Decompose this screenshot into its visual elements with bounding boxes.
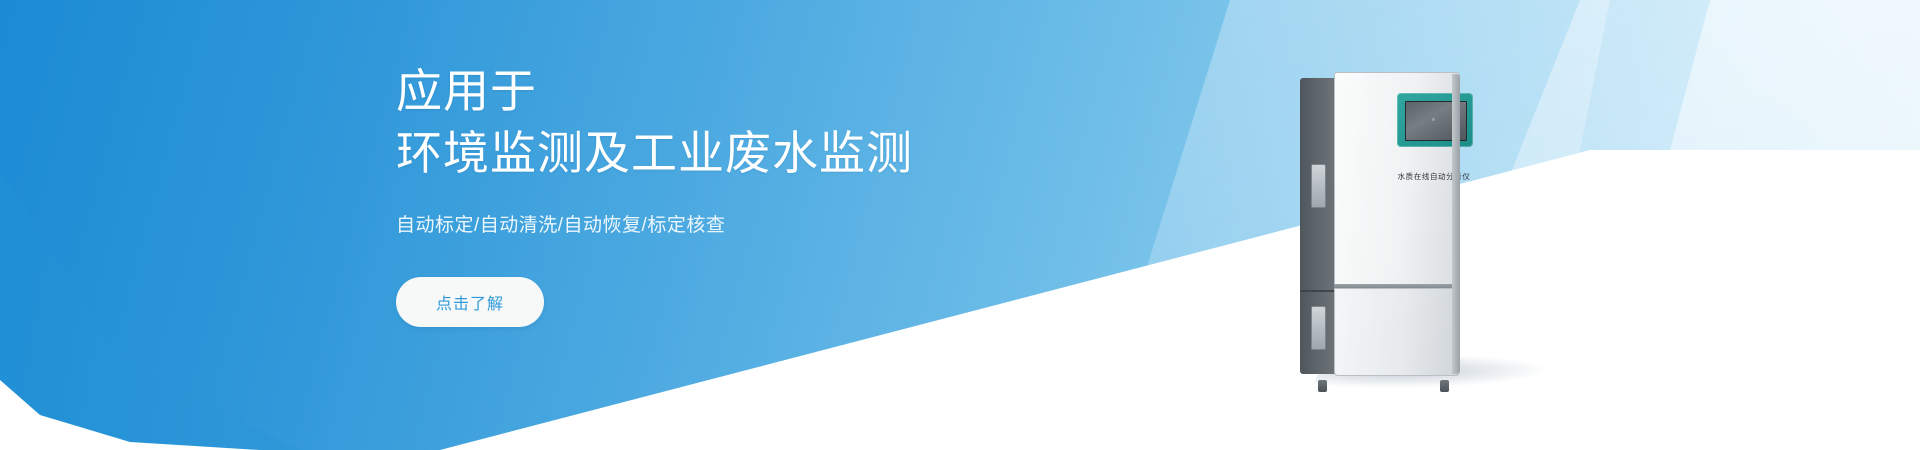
cabinet-upper-handle	[1311, 164, 1326, 208]
cabinet-side-panel	[1300, 78, 1336, 374]
caster-wheel-right	[1440, 380, 1449, 392]
banner-subtitle: 自动标定/自动清洗/自动恢复/标定核查	[396, 210, 1116, 237]
cabinet-lower-door	[1334, 288, 1460, 376]
caster-wheel-left	[1318, 380, 1327, 392]
cabinet-right-edge	[1452, 74, 1460, 374]
product-front-label: 水质在线自动分析仪	[1381, 171, 1487, 182]
headline-line-1: 应用于	[396, 65, 537, 117]
learn-more-button[interactable]: 点击了解	[396, 277, 544, 327]
display-screen-bezel	[1397, 93, 1473, 147]
cabinet-upper-door: 水质在线自动分析仪	[1334, 72, 1460, 286]
cabinet-lower-handle	[1311, 306, 1326, 350]
page-title: 应用于 环境监测及工业废水监测	[396, 60, 1116, 184]
cabinet-side-seam	[1300, 290, 1336, 292]
banner-copy-block: 应用于 环境监测及工业废水监测 自动标定/自动清洗/自动恢复/标定核查 点击了解	[396, 60, 1116, 327]
product-image-analyzer: 水质在线自动分析仪	[1300, 72, 1470, 382]
headline-line-2: 环境监测及工业废水监测	[396, 122, 1116, 184]
hero-banner: 应用于 环境监测及工业废水监测 自动标定/自动清洗/自动恢复/标定核查 点击了解…	[0, 0, 1920, 450]
screen-indicator-dot	[1432, 118, 1435, 121]
